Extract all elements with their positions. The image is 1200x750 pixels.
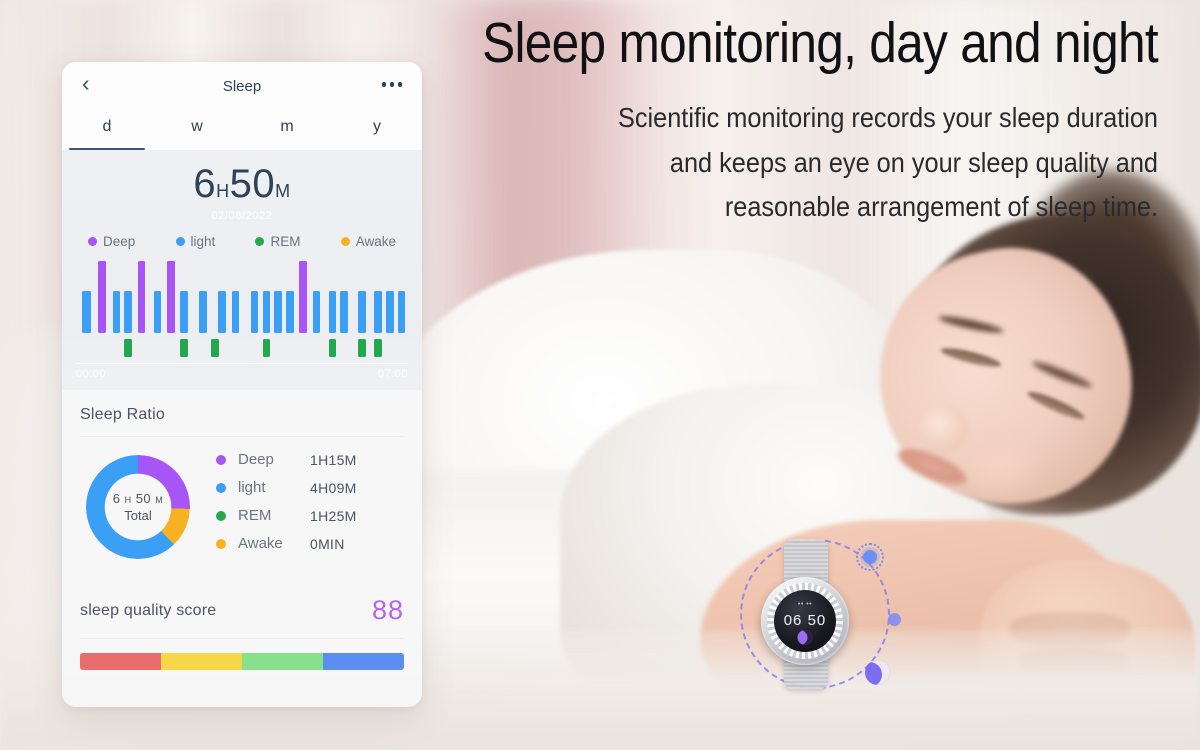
sun-icon bbox=[863, 550, 877, 564]
description-line-1: Scientific monitoring records your sleep… bbox=[496, 96, 1158, 141]
hypnogram-bar-rem bbox=[358, 339, 366, 357]
total-sleep-duration: 6H50M bbox=[62, 164, 422, 204]
legend-dot-deep bbox=[88, 237, 97, 246]
ratio-dot-rem bbox=[216, 511, 226, 521]
hypnogram-bar-light bbox=[113, 291, 121, 333]
hypnogram-bar-rem bbox=[263, 339, 271, 357]
ratio-dot-deep bbox=[216, 455, 226, 465]
legend-label-light: light bbox=[191, 234, 216, 249]
hypnogram-bar-light bbox=[329, 291, 337, 333]
hypnogram-bar-rem bbox=[329, 339, 337, 357]
hypnogram-bar-light bbox=[313, 291, 321, 333]
tab-week[interactable]: w bbox=[152, 114, 242, 150]
tab-month[interactable]: m bbox=[242, 114, 332, 150]
hypnogram-bar-light bbox=[374, 291, 382, 333]
sleep-ratio-title: Sleep Ratio bbox=[80, 406, 404, 424]
hypnogram-bar-light bbox=[251, 291, 259, 333]
axis-start-label: 00:00 bbox=[76, 368, 106, 380]
ratio-row-light: light 4H09M bbox=[216, 479, 404, 496]
hypnogram-bar-rem bbox=[180, 339, 188, 357]
hypnogram-bar-light bbox=[286, 291, 294, 333]
record-date: 02/08/2022 bbox=[62, 210, 422, 222]
ratio-value-rem: 1H25M bbox=[310, 508, 357, 524]
hypnogram-bar-rem bbox=[211, 339, 219, 357]
ratio-row-awake: Awake 0MIN bbox=[216, 535, 404, 552]
quality-header: sleep quality score 88 bbox=[80, 595, 404, 626]
watch-time: 06 50 bbox=[774, 612, 836, 629]
hypnogram-chart[interactable] bbox=[76, 261, 408, 357]
hypnogram-bar-deep bbox=[98, 261, 106, 333]
ratio-value-awake: 0MIN bbox=[310, 536, 345, 552]
minutes-unit: M bbox=[275, 181, 291, 201]
moon-icon bbox=[798, 630, 813, 645]
quality-segment-excellent bbox=[323, 653, 404, 670]
hypnogram-bar-deep bbox=[299, 261, 307, 333]
hypnogram-bar-light bbox=[82, 291, 91, 333]
ratio-row-deep: Deep 1H15M bbox=[216, 451, 404, 468]
chart-axis-line bbox=[76, 363, 408, 364]
hypnogram-bar-light bbox=[232, 291, 240, 333]
donut-duration: 6 H 50 M bbox=[113, 491, 164, 506]
legend-item-deep: Deep bbox=[88, 234, 135, 249]
ratio-row-rem: REM 1H25M bbox=[216, 507, 404, 524]
description-line-3: reasonable arrangement of sleep time. bbox=[496, 185, 1158, 230]
chart-axis-labels: 00:00 07:00 bbox=[76, 368, 408, 380]
total-hours: 6 bbox=[193, 162, 216, 206]
donut-caption: Total bbox=[124, 508, 151, 523]
sleep-ratio-donut: 6 H 50 M Total bbox=[86, 455, 190, 559]
screen-title: Sleep bbox=[62, 78, 422, 95]
hypnogram-bar-light bbox=[274, 291, 282, 333]
legend-item-rem: REM bbox=[255, 234, 300, 249]
more-options-icon[interactable] bbox=[382, 82, 403, 87]
hypnogram-bar-deep bbox=[138, 261, 146, 333]
hypnogram-bar-light bbox=[398, 291, 406, 333]
quality-score-value: 88 bbox=[372, 595, 404, 626]
hypnogram-bar-rem bbox=[374, 339, 382, 357]
hypnogram-bar-light bbox=[154, 291, 162, 333]
quality-title: sleep quality score bbox=[80, 602, 216, 620]
hypnogram-bar-rem bbox=[124, 339, 132, 357]
quality-segment-fair bbox=[161, 653, 242, 670]
watch-face: •• •• 06 50 bbox=[774, 590, 836, 652]
page-title: Sleep monitoring, day and night bbox=[349, 14, 1158, 74]
sleep-ratio-section: Sleep Ratio 6 H 50 M Total Dee bbox=[62, 390, 422, 581]
ratio-label-awake: Awake bbox=[238, 535, 310, 552]
ratio-value-deep: 1H15M bbox=[310, 452, 357, 468]
total-minutes: 50 bbox=[230, 162, 276, 206]
sleep-ratio-list: Deep 1H15M light 4H09M REM 1H25M Awake 0… bbox=[190, 451, 404, 563]
hypnogram-bar-deep bbox=[167, 261, 175, 333]
hypnogram-bar-light bbox=[124, 291, 132, 333]
legend-label-deep: Deep bbox=[103, 234, 135, 249]
ratio-dot-awake bbox=[216, 539, 226, 549]
hypnogram-bar-light bbox=[180, 291, 188, 333]
tab-day[interactable]: d bbox=[62, 114, 152, 150]
legend-item-awake: Awake bbox=[341, 234, 396, 249]
hypnogram-bar-light bbox=[358, 291, 366, 333]
axis-end-label: 07:00 bbox=[378, 368, 408, 380]
divider bbox=[80, 638, 404, 639]
donut-hours-unit: H bbox=[125, 495, 132, 505]
ratio-label-light: light bbox=[238, 479, 310, 496]
hypnogram-bar-light bbox=[263, 291, 271, 333]
hypnogram-bar-light bbox=[386, 291, 394, 333]
phone-mockup: ‹ Sleep d w m y 6H50M 02/08/2022 Deep li… bbox=[62, 62, 422, 707]
legend-label-awake: Awake bbox=[356, 234, 396, 249]
legend-label-rem: REM bbox=[270, 234, 300, 249]
tab-year[interactable]: y bbox=[332, 114, 422, 150]
app-header: ‹ Sleep bbox=[62, 62, 422, 114]
moon-icon bbox=[865, 660, 890, 685]
watch-top-indicators: •• •• bbox=[774, 601, 836, 608]
ratio-value-light: 4H09M bbox=[310, 480, 357, 496]
hours-unit: H bbox=[216, 181, 230, 201]
period-tabs: d w m y bbox=[62, 114, 422, 150]
donut-center-label: 6 H 50 M Total bbox=[86, 455, 190, 559]
legend-dot-rem bbox=[255, 237, 264, 246]
smartwatch: •• •• 06 50 bbox=[760, 565, 852, 657]
legend-dot-light bbox=[176, 237, 185, 246]
quality-segment-good bbox=[242, 653, 323, 670]
quality-segment-poor bbox=[80, 653, 161, 670]
ratio-dot-light bbox=[216, 483, 226, 493]
ratio-label-deep: Deep bbox=[238, 451, 310, 468]
sleep-ratio-body: 6 H 50 M Total Deep 1H15M light bbox=[80, 437, 404, 575]
hypnogram-bar-light bbox=[340, 291, 348, 333]
page-description: Scientific monitoring records your sleep… bbox=[496, 96, 1158, 230]
hypnogram-card: 6H50M 02/08/2022 Deep light REM Awake 00… bbox=[62, 150, 422, 390]
hypnogram-bar-light bbox=[199, 291, 207, 333]
ratio-label-rem: REM bbox=[238, 507, 310, 524]
description-line-2: and keeps an eye on your sleep quality a… bbox=[496, 141, 1158, 186]
stage-legend: Deep light REM Awake bbox=[62, 222, 422, 249]
donut-minutes-unit: M bbox=[155, 495, 163, 505]
legend-item-light: light bbox=[176, 234, 216, 249]
hypnogram-bar-light bbox=[218, 291, 226, 333]
sleep-quality-section: sleep quality score 88 bbox=[62, 581, 422, 676]
donut-hours: 6 bbox=[113, 491, 121, 506]
quality-scale-bar bbox=[80, 653, 404, 670]
orbit-dot-icon bbox=[888, 613, 901, 626]
legend-dot-awake bbox=[341, 237, 350, 246]
donut-minutes: 50 bbox=[136, 491, 151, 506]
